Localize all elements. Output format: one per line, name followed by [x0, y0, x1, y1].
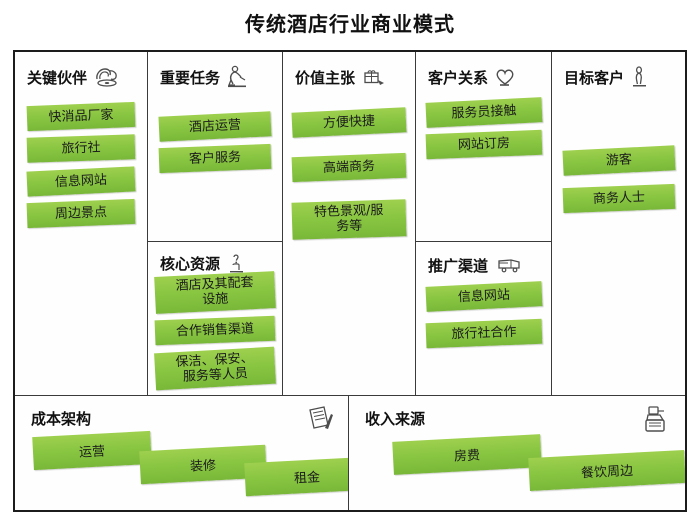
block-title: 推广渠道	[428, 255, 488, 276]
truck-icon	[494, 254, 524, 276]
block-header: 价值主张	[295, 62, 409, 92]
block-cost-structure[interactable]: 成本架构 运营 装修 租金	[15, 396, 349, 510]
tag-list: 方便快捷 高端商务 特色景观/服 务等	[283, 110, 415, 244]
tag-list: 游客 商务人士	[552, 148, 685, 219]
tag[interactable]: 网站订房	[425, 130, 542, 160]
cash-register-icon	[641, 404, 671, 436]
canvas-grid: 关键伙伴 快消品厂家 旅行社 信息网站 周边景点	[13, 50, 687, 512]
block-title: 目标客户	[564, 67, 624, 88]
block-title: 核心资源	[160, 253, 220, 274]
gift-box-icon	[361, 66, 387, 88]
block-channels[interactable]: 推广渠道 信息网站 旅行社合作	[416, 242, 552, 396]
business-model-canvas: 传统酒店行业商业模式 关键伙伴 快消品厂家 旅行社 信	[0, 0, 700, 525]
tag-list: 酒店运营 客户服务	[148, 114, 282, 179]
tag[interactable]: 信息网站	[425, 281, 542, 312]
tag[interactable]: 特色景观/服 务等	[291, 199, 406, 239]
block-header: 客户关系	[428, 62, 545, 92]
block-header: 重要任务	[160, 62, 276, 92]
block-key-activities[interactable]: 重要任务 酒店运营 客户服务	[148, 52, 283, 242]
tag[interactable]: 酒店及其配套 设施	[154, 271, 276, 313]
notepad-pen-icon	[304, 404, 334, 434]
tag[interactable]: 商务人士	[562, 184, 675, 214]
tag[interactable]: 保洁、保安、 服务等人员	[154, 347, 276, 390]
tag[interactable]: 旅行社合作	[425, 319, 542, 349]
block-key-partners[interactable]: 关键伙伴 快消品厂家 旅行社 信息网站 周边景点	[15, 52, 148, 396]
block-value-propositions[interactable]: 价值主张 方便快捷 高端商务 特色景观/服 务等	[283, 52, 416, 396]
tag[interactable]: 快消品厂家	[27, 102, 136, 131]
block-revenue-streams[interactable]: 收入来源 房费 餐饮周边	[349, 396, 685, 510]
block-title: 成本架构	[31, 408, 91, 429]
tag[interactable]: 服务员接触	[425, 97, 542, 128]
block-title: 关键伙伴	[27, 67, 87, 88]
tag[interactable]: 周边景点	[27, 199, 136, 228]
block-header: 目标客户	[564, 62, 679, 92]
standing-person-icon	[630, 65, 648, 89]
tag[interactable]: 高端商务	[292, 153, 407, 183]
tag-list: 服务员接触 网站订房	[416, 100, 551, 165]
page-title: 传统酒店行业商业模式	[0, 8, 700, 37]
handshake-icon	[93, 66, 119, 88]
band-tag[interactable]: 租金	[244, 457, 349, 496]
tag-list: 酒店及其配套 设施 合作销售渠道 保洁、保安、 服务等人员	[148, 274, 282, 394]
block-header: 关键伙伴	[27, 62, 141, 92]
tag[interactable]: 合作销售渠道	[155, 315, 276, 345]
tag[interactable]: 酒店运营	[158, 111, 271, 142]
tag[interactable]: 游客	[562, 145, 675, 176]
band-tag[interactable]: 运营	[32, 431, 152, 470]
tag[interactable]: 旅行社	[27, 135, 136, 164]
block-title: 收入来源	[365, 408, 425, 429]
block-header: 推广渠道	[428, 250, 545, 280]
tag[interactable]: 客户服务	[159, 144, 272, 174]
worker-icon	[226, 65, 248, 89]
block-title: 重要任务	[160, 67, 220, 88]
block-customer-relationships[interactable]: 客户关系 服务员接触 网站订房	[416, 52, 552, 242]
block-customer-segments[interactable]: 目标客户 游客 商务人士	[552, 52, 685, 396]
block-title: 客户关系	[428, 67, 488, 88]
heart-icon	[494, 67, 516, 87]
tag-list: 快消品厂家 旅行社 信息网站 周边景点	[15, 104, 147, 233]
tag[interactable]: 方便快捷	[291, 107, 406, 138]
tag-list: 信息网站 旅行社合作	[416, 284, 551, 354]
band-tag[interactable]: 餐饮周边	[528, 450, 685, 491]
block-key-resources[interactable]: 核心资源 酒店及其配套 设施 合作销售渠道 保洁、保安、 服务等人员	[148, 242, 283, 396]
tag[interactable]: 信息网站	[26, 166, 135, 197]
person-idea-icon	[226, 252, 246, 274]
block-title: 价值主张	[295, 67, 355, 88]
band-tag[interactable]: 房费	[392, 434, 542, 475]
